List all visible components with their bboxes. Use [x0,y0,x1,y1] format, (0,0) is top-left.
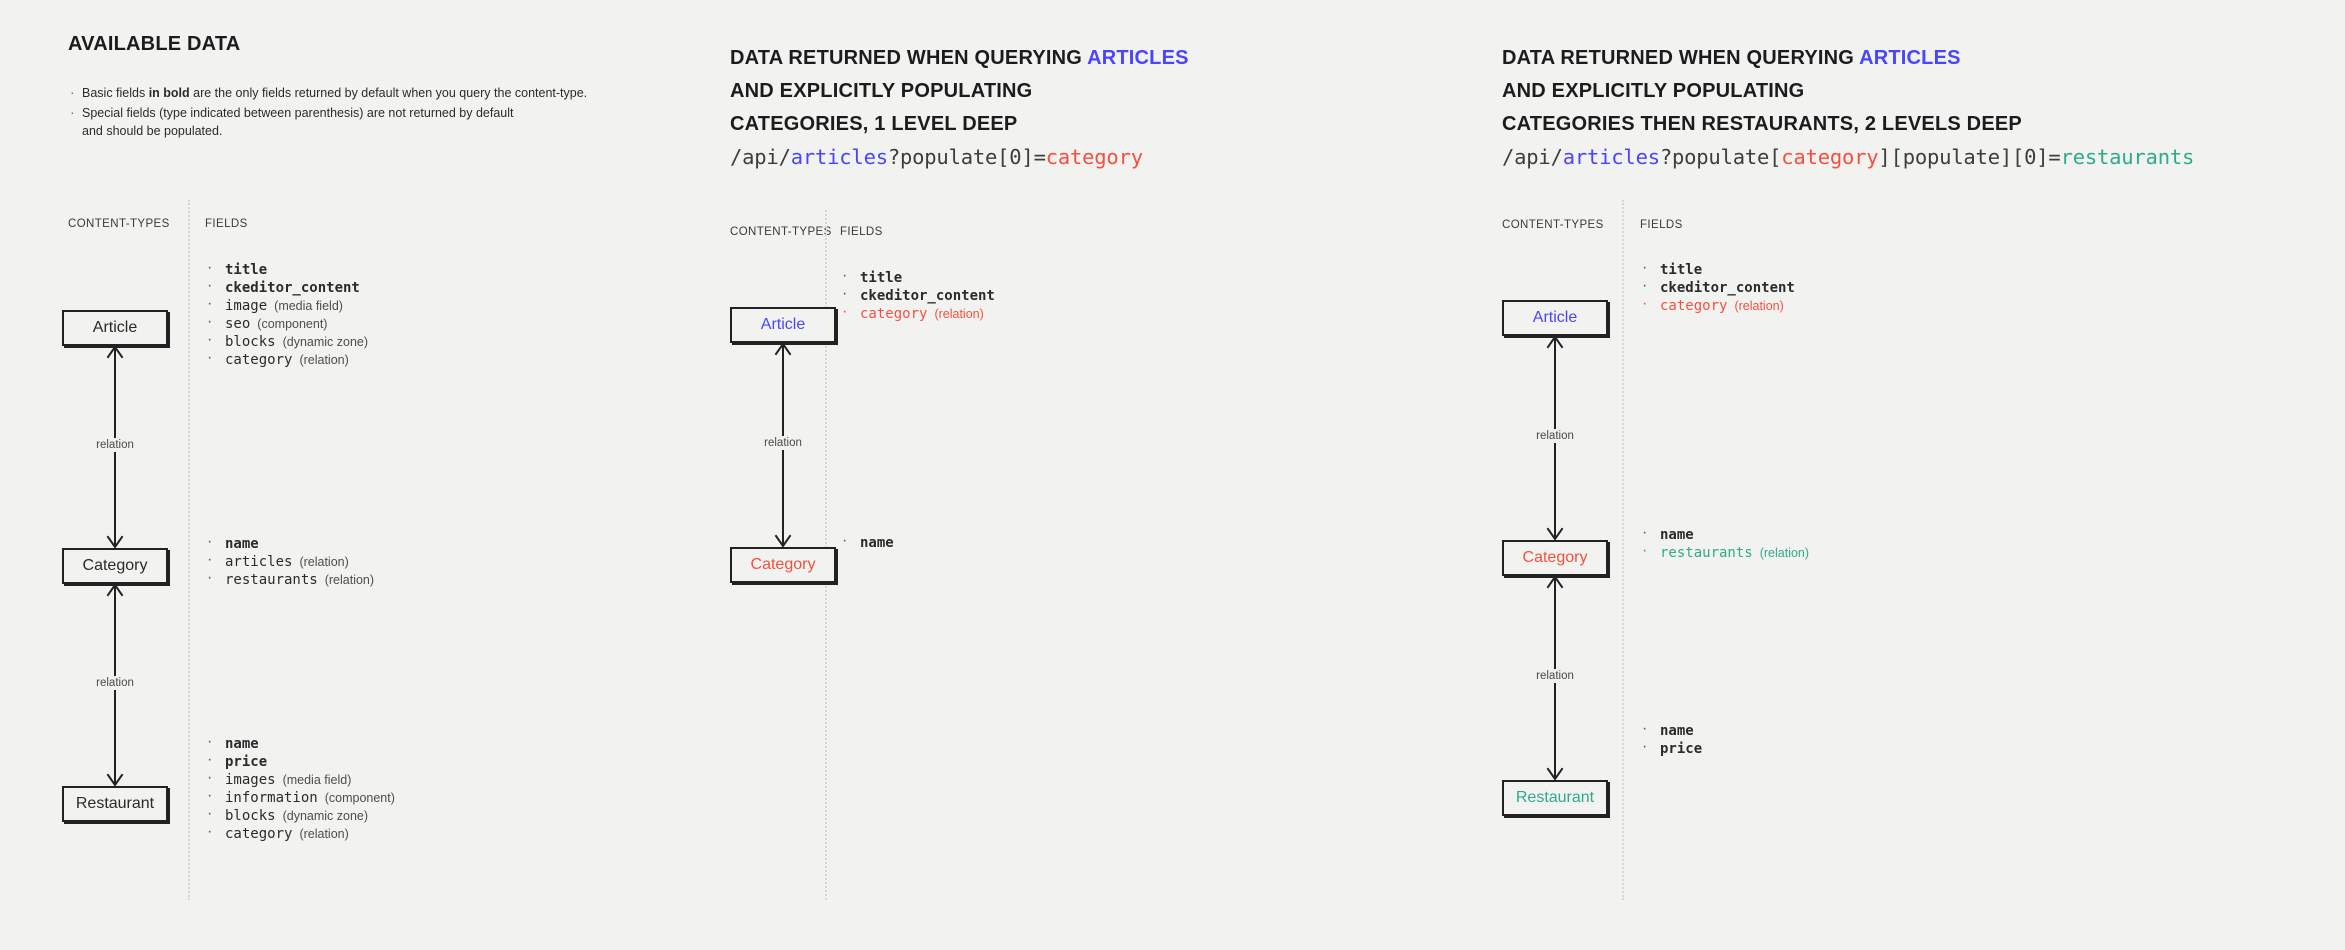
relation-arrow-label: relation [1532,429,1578,443]
intro-text: are the only fields returned by default … [190,86,587,100]
field-row: restaurants(relation) [205,572,374,588]
field-row: image(media field) [205,298,368,314]
field-list-article: titleckeditor_contentimage(media field)s… [205,262,368,370]
heading-line1-text: DATA RETURNED WHEN QUERYING [1502,47,1859,69]
label-content-types: CONTENT-TYPES [68,218,170,230]
field-type: (media field) [283,773,352,787]
field-name: title [860,270,902,286]
label-content-types: CONTENT-TYPES [1502,219,1604,231]
field-row: blocks(dynamic zone) [205,334,368,350]
content-type-label: Restaurant [76,795,154,813]
field-name: information [225,790,318,806]
field-name: category [225,826,292,842]
field-name: images [225,772,276,788]
relation-arrow-label: relation [92,438,138,452]
field-name: seo [225,316,250,332]
field-type: (component) [257,317,327,331]
heading-line2: AND EXPLICITLY POPULATING [1502,75,2022,108]
field-list-restaurant: nameprice [1640,723,1702,759]
field-name: name [860,535,894,551]
field-row: title [1640,262,1795,278]
field-name: articles [225,554,292,570]
field-type: (media field) [274,299,343,313]
field-row: blocks(dynamic zone) [205,808,395,824]
content-type-box-category[interactable]: Category [62,548,168,584]
field-type: (relation) [299,827,348,841]
column-divider [188,200,190,900]
intro-text-bold: in bold [149,86,190,100]
field-row: name [1640,527,1809,543]
intro-text: Special fields (type indicated between p… [82,106,514,120]
query-segment-1: articles [1563,145,1660,169]
content-type-label: Article [93,319,137,337]
field-list-category: namerestaurants(relation) [1640,527,1809,563]
heading-accent-articles: ARTICLES [1859,47,1961,69]
field-name: title [225,262,267,278]
column-heading: DATA RETURNED WHEN QUERYING ARTICLESAND … [730,42,1189,141]
relation-arrow-label: relation [92,676,138,690]
field-row: name [1640,723,1702,739]
content-type-label: Article [1533,309,1577,327]
field-name: ckeditor_content [860,288,995,304]
field-name: category [860,306,927,322]
content-type-box-article[interactable]: Article [730,307,836,343]
field-row: articles(relation) [205,554,374,570]
content-type-box-restaurant[interactable]: Restaurant [1502,780,1608,816]
relation-arrow-label: relation [760,436,806,450]
field-list-category: namearticles(relation)restaurants(relati… [205,536,374,590]
query-segment-4: ][populate][0]= [1878,145,2060,169]
heading-line1-text: DATA RETURNED WHEN QUERYING [730,47,1087,69]
content-type-box-restaurant[interactable]: Restaurant [62,786,168,822]
field-name: blocks [225,808,276,824]
query-url: /api/articles?populate[category][populat… [1502,145,2194,169]
content-type-box-category[interactable]: Category [1502,540,1608,576]
field-name: ckeditor_content [225,280,360,296]
query-url: /api/articles?populate[0]=category [730,145,1143,169]
field-type: (relation) [299,555,348,569]
query-segment-3: category [1781,145,1878,169]
intro-bullet-list: Basic fields in bold are the only fields… [68,84,587,142]
field-row: title [840,270,995,286]
column-populate-2-levels: DATA RETURNED WHEN QUERYING ARTICLESAND … [1480,0,2345,950]
heading-line3: CATEGORIES, 1 LEVEL DEEP [730,108,1189,141]
field-list-article: titleckeditor_contentcategory(relation) [840,270,995,324]
heading-accent-articles: ARTICLES [1087,47,1189,69]
content-type-label: Category [83,557,148,575]
field-type: (component) [325,791,395,805]
label-fields: FIELDS [205,218,248,230]
column-divider [1622,200,1624,900]
field-type: (relation) [325,573,374,587]
label-content-types: CONTENT-TYPES [730,226,832,238]
diagram-page: AVAILABLE DATABasic fields in bold are t… [0,0,2345,950]
query-segment-0: /api/ [730,145,791,169]
field-row: ckeditor_content [205,280,368,296]
field-row: name [205,536,374,552]
label-fields: FIELDS [840,226,883,238]
field-name: blocks [225,334,276,350]
field-type: (dynamic zone) [283,809,368,823]
field-row: title [205,262,368,278]
field-row: price [1640,741,1702,757]
field-name: ckeditor_content [1660,280,1795,296]
field-row: name [840,535,894,551]
field-type: (relation) [934,307,983,321]
field-name: name [225,536,259,552]
content-type-label: Article [761,316,805,334]
field-name: price [1660,741,1702,757]
field-type: (relation) [299,353,348,367]
field-row: category(relation) [205,826,395,842]
label-fields: FIELDS [1640,219,1683,231]
heading-line3: CATEGORIES THEN RESTAURANTS, 2 LEVELS DE… [1502,108,2022,141]
column-heading: DATA RETURNED WHEN QUERYING ARTICLESAND … [1502,42,2022,141]
field-row: information(component) [205,790,395,806]
query-segment-0: /api/ [1502,145,1563,169]
field-name: name [1660,723,1694,739]
field-name: image [225,298,267,314]
column-populate-1-level: DATA RETURNED WHEN QUERYING ARTICLESAND … [700,0,1360,950]
query-segment-5: restaurants [2061,145,2195,169]
field-row: name [205,736,395,752]
field-type: (dynamic zone) [283,335,368,349]
field-name: category [225,352,292,368]
intro-bullet: Special fields (type indicated between p… [68,104,587,140]
field-name: name [225,736,259,752]
field-name: price [225,754,267,770]
intro-bullet: Basic fields in bold are the only fields… [68,84,587,102]
field-row: price [205,754,395,770]
field-row: category(relation) [1640,298,1795,314]
field-row: restaurants(relation) [1640,545,1809,561]
query-segment-2: ?populate[ [1660,145,1781,169]
content-type-label: Category [751,556,816,574]
field-row: ckeditor_content [840,288,995,304]
content-type-box-article[interactable]: Article [1502,300,1608,336]
field-name: category [1660,298,1727,314]
column-heading: AVAILABLE DATA [68,28,240,61]
content-type-box-article[interactable]: Article [62,310,168,346]
field-list-restaurant: namepriceimages(media field)information(… [205,736,395,844]
field-row: category(relation) [840,306,995,322]
intro-text: Basic fields [82,86,149,100]
field-row: ckeditor_content [1640,280,1795,296]
query-segment-3: category [1046,145,1143,169]
field-name: restaurants [225,572,318,588]
content-type-box-category[interactable]: Category [730,547,836,583]
field-row: category(relation) [205,352,368,368]
field-row: images(media field) [205,772,395,788]
field-name: restaurants [1660,545,1753,561]
field-type: (relation) [1760,546,1809,560]
field-name: name [1660,527,1694,543]
field-list-category: name [840,535,894,553]
content-type-label: Category [1523,549,1588,567]
content-type-label: Restaurant [1516,789,1594,807]
field-type: (relation) [1734,299,1783,313]
intro-text: and should be populated. [82,124,222,138]
heading-line2: AND EXPLICITLY POPULATING [730,75,1189,108]
query-segment-2: ?populate[0]= [888,145,1046,169]
relation-arrow-label: relation [1532,669,1578,683]
field-list-article: titleckeditor_contentcategory(relation) [1640,262,1795,316]
field-row: seo(component) [205,316,368,332]
field-name: title [1660,262,1702,278]
query-segment-1: articles [791,145,888,169]
